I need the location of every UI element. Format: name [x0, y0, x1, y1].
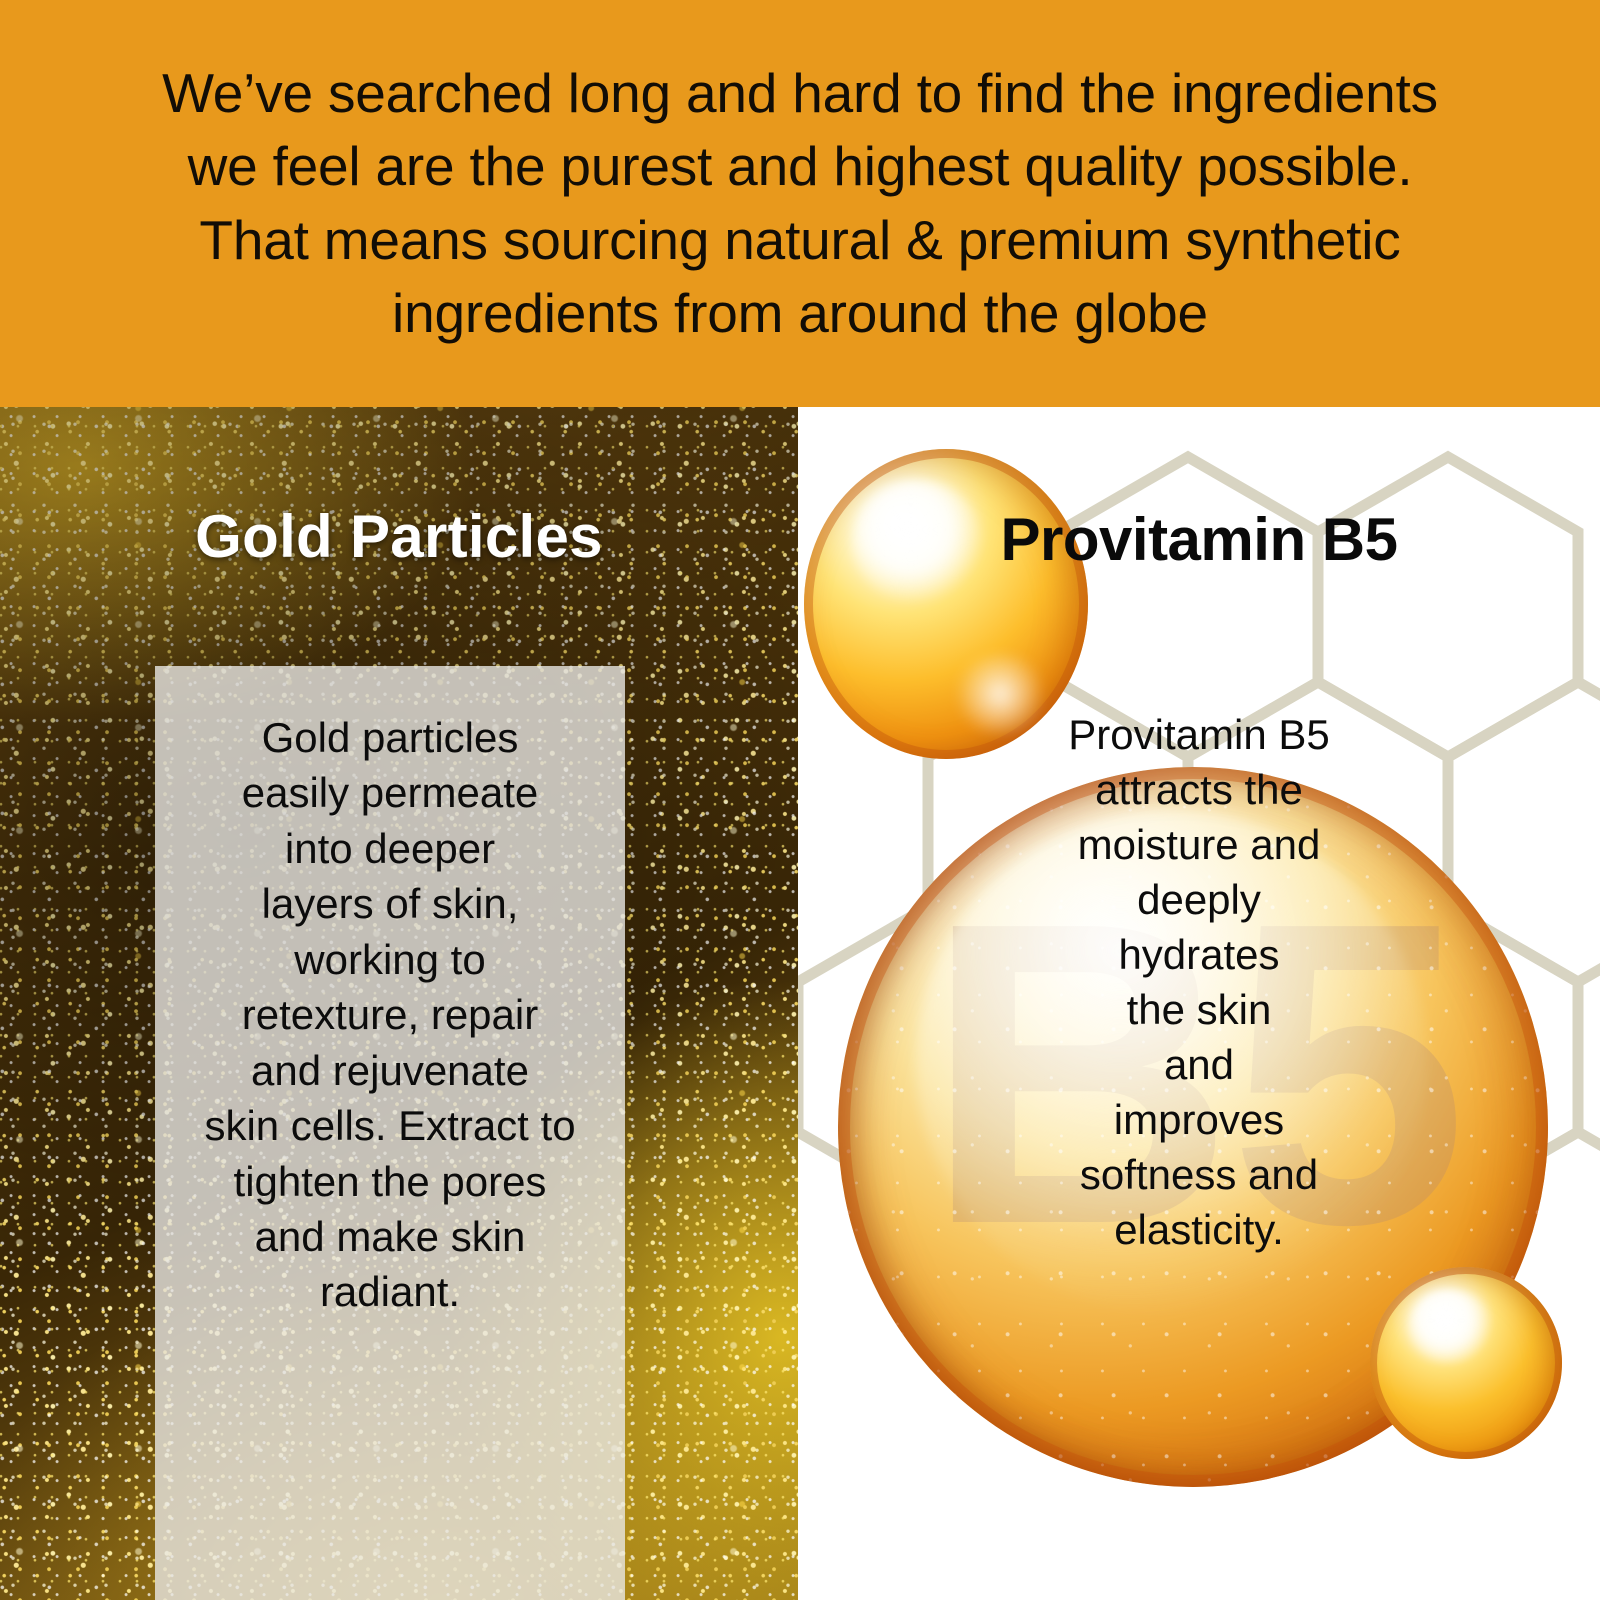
bubble-highlight: [1408, 1290, 1492, 1363]
provitamin-b5-small-bubble-icon: [1370, 1267, 1562, 1459]
gold-particles-textbox: Gold particles easily permeate into deep…: [155, 666, 625, 1600]
infographic-page: We’ve searched long and hard to find the…: [0, 0, 1600, 1600]
provitamin-b5-body-text: Provitamin B5 attracts the moisture and …: [999, 707, 1399, 1257]
gold-particles-body-text: Gold particles easily permeate into deep…: [204, 710, 575, 1600]
gold-particles-panel: Gold Particles Gold particles easily per…: [0, 407, 798, 1600]
header-paragraph: We’ve searched long and hard to find the…: [162, 57, 1438, 350]
provitamin-b5-panel: B5 Provitamin B5 Provitamin B5 attracts …: [798, 407, 1600, 1600]
header-banner: We’ve searched long and hard to find the…: [0, 0, 1600, 407]
gold-particles-title: Gold Particles: [0, 502, 798, 571]
provitamin-b5-title: Provitamin B5: [798, 505, 1600, 574]
ingredient-panels: Gold Particles Gold particles easily per…: [0, 407, 1600, 1600]
